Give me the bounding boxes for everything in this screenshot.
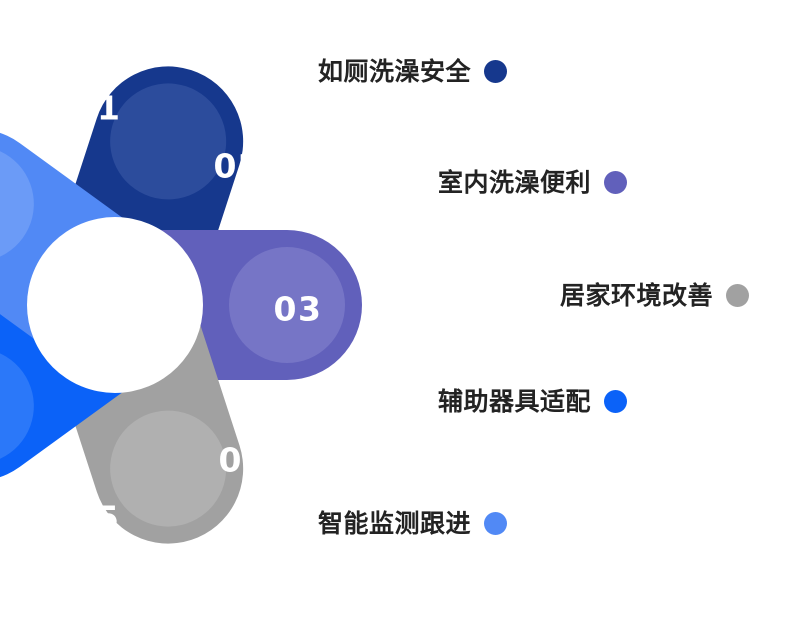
petal-number-01: 01: [73, 89, 122, 128]
legend-label-02: 室内洗澡便利: [438, 170, 591, 195]
legend-dot-icon-05: [484, 512, 507, 535]
legend-item-04[interactable]: 辅助器具适配: [438, 389, 627, 414]
legend-label-03: 居家环境改善: [560, 283, 713, 308]
legend-item-02[interactable]: 室内洗澡便利: [438, 170, 627, 195]
petal-number-02: 02: [214, 147, 263, 186]
legend-label-04: 辅助器具适配: [438, 389, 591, 414]
legend-label-01: 如厕洗澡安全: [318, 59, 471, 84]
petal-number-04: 04: [219, 441, 268, 480]
legend-dot-icon-02: [604, 171, 627, 194]
petal-number-05: 05: [72, 499, 121, 538]
legend-item-05[interactable]: 智能监测跟进: [318, 511, 507, 536]
petal-number-03: 03: [274, 290, 323, 329]
legend-dot-icon-04: [604, 390, 627, 413]
legend-item-01[interactable]: 如厕洗澡安全: [318, 59, 507, 84]
legend-dot-icon-01: [484, 60, 507, 83]
legend-item-03[interactable]: 居家环境改善: [560, 283, 749, 308]
legend-dot-icon-03: [726, 284, 749, 307]
center-white-circle: [27, 217, 203, 393]
infographic-canvas: 0102030405 如厕洗澡安全室内洗澡便利居家环境改善辅助器具适配智能监测跟…: [0, 0, 811, 624]
legend-label-05: 智能监测跟进: [318, 511, 471, 536]
